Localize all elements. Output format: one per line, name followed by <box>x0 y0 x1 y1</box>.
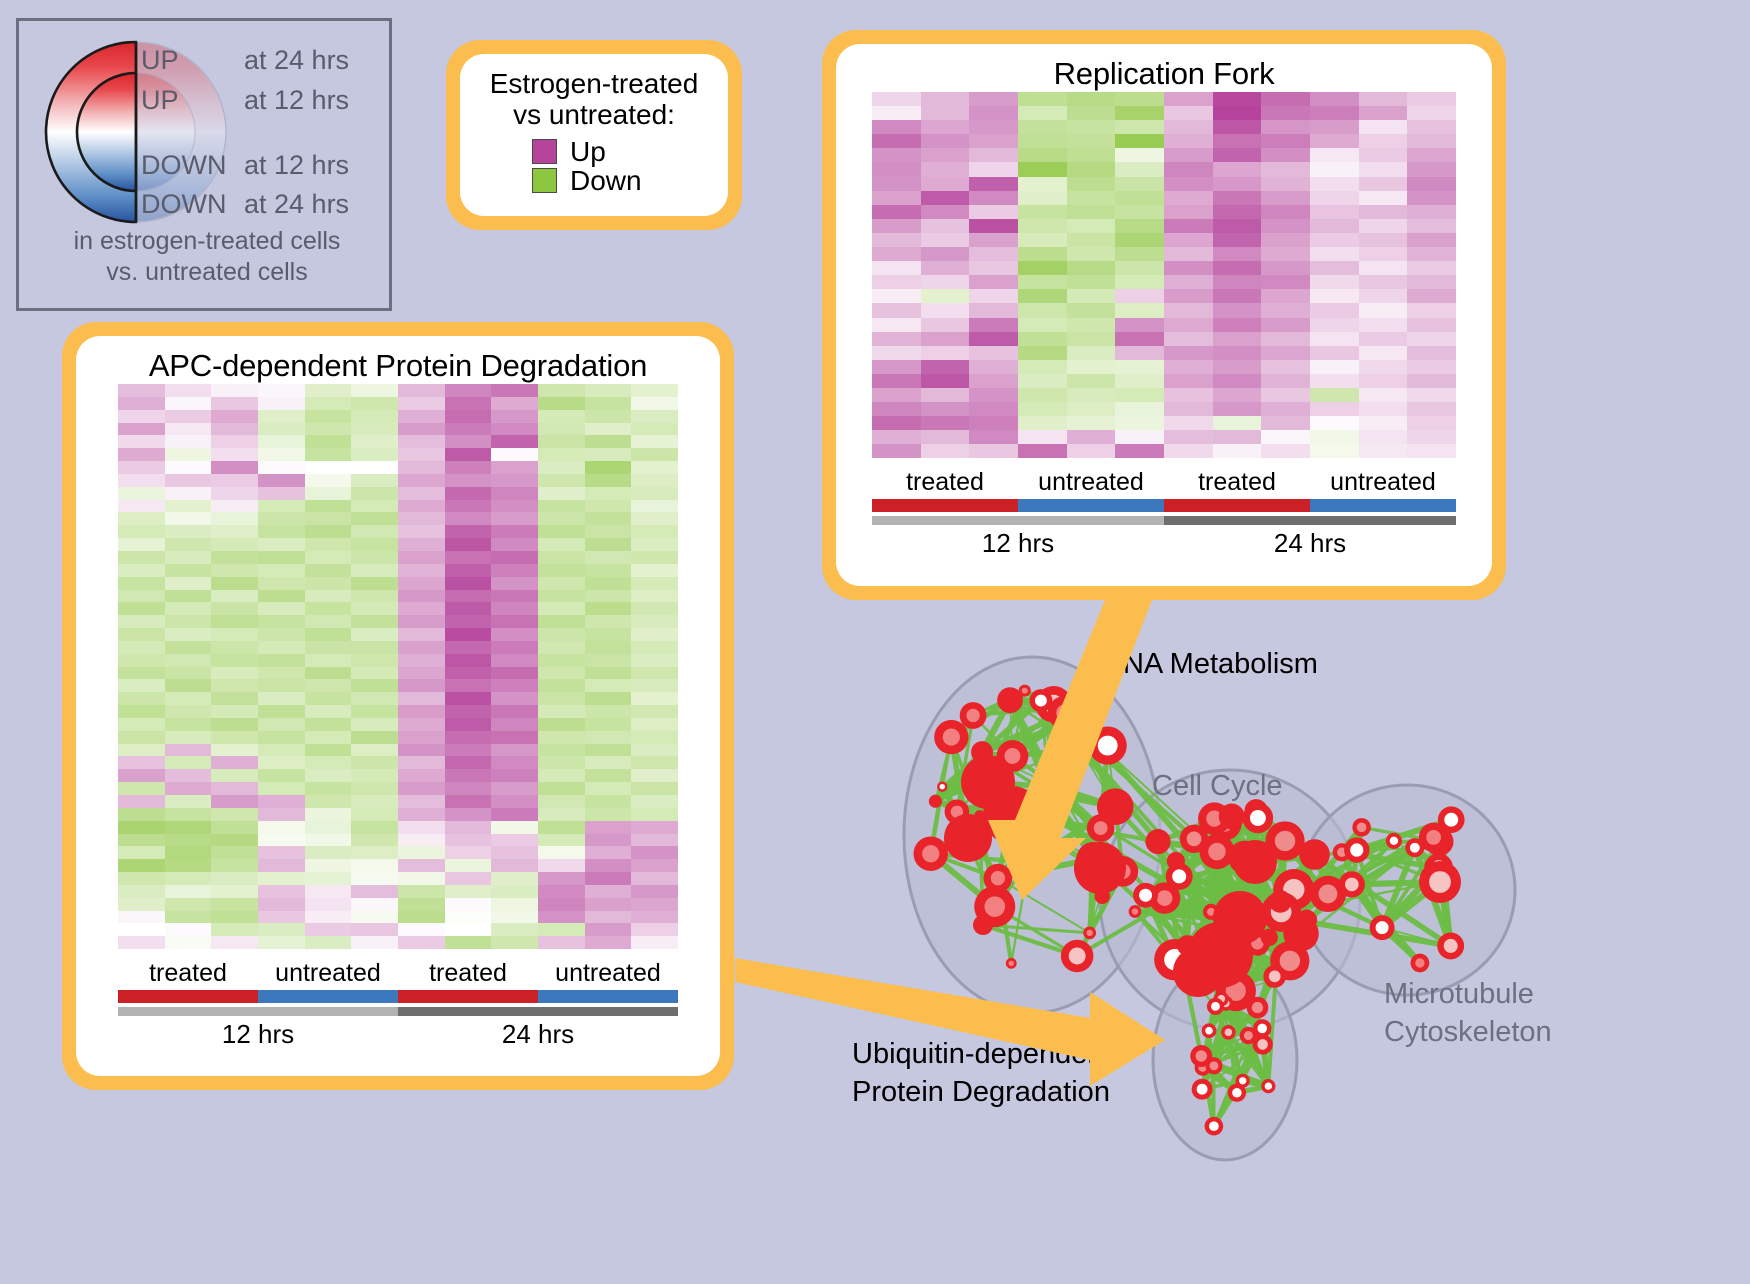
heatmap-cell <box>969 134 1018 148</box>
network-node-center <box>1196 1050 1207 1061</box>
heatmap-cell <box>305 602 352 615</box>
heatmap-cell <box>631 448 678 461</box>
heatmap-cell <box>1407 261 1456 275</box>
heatmap-cell <box>305 461 352 474</box>
heatmap-cell <box>1359 191 1408 205</box>
heatmap-cell <box>398 602 445 615</box>
apc-group-label-3: untreated <box>538 959 678 988</box>
heatmap-cell <box>1164 275 1213 289</box>
heatmap-cell <box>351 538 398 551</box>
heatmap-cell <box>1359 346 1408 360</box>
cluster-label-cytoskeleton: Cytoskeleton <box>1384 1016 1552 1049</box>
heatmap-cell <box>258 923 305 936</box>
heatmap-cell <box>1407 360 1456 374</box>
heatmap-cell <box>1164 205 1213 219</box>
heatmap-cell <box>1018 388 1067 402</box>
heatmap-cell <box>1018 233 1067 247</box>
heatmap-cell <box>1018 205 1067 219</box>
heatmap-cell <box>398 936 445 949</box>
heatmap-cell <box>1310 162 1359 176</box>
heatmap-cell <box>445 487 492 500</box>
heatmap-cell <box>211 718 258 731</box>
heatmap-cell <box>1115 106 1164 120</box>
apc-time-label-1: 24 hrs <box>398 1019 678 1050</box>
heatmap-cell <box>1115 134 1164 148</box>
heatmap-cell <box>1115 402 1164 416</box>
heatmap-cell <box>1310 360 1359 374</box>
heatmap-cell <box>491 923 538 936</box>
heatmap-cell <box>1067 318 1116 332</box>
heatmap-cell <box>258 718 305 731</box>
heatmap-cell <box>872 247 921 261</box>
network-node-center <box>1265 1082 1272 1089</box>
heatmap-cell <box>351 641 398 654</box>
network-node-center <box>1345 878 1359 892</box>
updown-legend-panel: Estrogen-treated vs untreated: Up Down <box>446 40 742 230</box>
heatmap-cell <box>258 846 305 859</box>
heatmap-cell <box>165 448 212 461</box>
heatmap-cell <box>872 233 921 247</box>
heatmap-cell <box>398 692 445 705</box>
heatmap-cell <box>211 885 258 898</box>
heatmap-cell <box>631 718 678 731</box>
heatmap-cell <box>351 435 398 448</box>
heatmap-cell <box>305 397 352 410</box>
heatmap-cell <box>398 872 445 885</box>
heatmap-cell <box>445 577 492 590</box>
heatmap-cell <box>1018 120 1067 134</box>
heatmap-cell <box>305 564 352 577</box>
heatmap-cell <box>1407 430 1456 444</box>
heatmap-cell <box>1213 360 1262 374</box>
network-node <box>929 795 942 808</box>
heatmap-cell <box>1359 360 1408 374</box>
heatmap-cell <box>969 318 1018 332</box>
heatmap-cell <box>631 821 678 834</box>
heatmap-cell <box>1115 162 1164 176</box>
heatmap-cell <box>538 769 585 782</box>
heatmap-cell <box>211 423 258 436</box>
network-node <box>1219 804 1245 830</box>
heatmap-cell <box>398 384 445 397</box>
heatmap-cell <box>1310 205 1359 219</box>
heatmap-cell <box>538 718 585 731</box>
heatmap-cell <box>1407 148 1456 162</box>
heatmap-cell <box>351 384 398 397</box>
heatmap-cell <box>165 667 212 680</box>
heatmap-cell <box>538 795 585 808</box>
heatmap-cell <box>165 782 212 795</box>
heatmap-cell <box>1310 247 1359 261</box>
heatmap-cell <box>1018 402 1067 416</box>
heatmap-cell <box>1115 148 1164 162</box>
heatmap-cell <box>872 162 921 176</box>
network-node-center <box>1390 837 1398 845</box>
heatmap-cell <box>351 487 398 500</box>
heatmap-cell <box>1310 289 1359 303</box>
heatmap-cell <box>872 346 921 360</box>
heatmap-cell <box>445 667 492 680</box>
heatmap-cell <box>165 397 212 410</box>
heatmap-cell <box>1164 233 1213 247</box>
heatmap-cell <box>1407 416 1456 430</box>
heatmap-cell <box>1164 444 1213 458</box>
heatmap-cell <box>211 448 258 461</box>
heatmap-cell <box>1261 191 1310 205</box>
heatmap-cell <box>491 679 538 692</box>
heatmap-cell <box>305 577 352 590</box>
heatmap-cell <box>585 769 632 782</box>
heatmap-cell <box>398 679 445 692</box>
heatmap-cell <box>538 397 585 410</box>
heatmap-cell <box>1407 374 1456 388</box>
heatmap-cell <box>398 821 445 834</box>
network-node-center <box>1275 831 1295 851</box>
heatmap-cell <box>258 641 305 654</box>
heatmap-cell <box>351 628 398 641</box>
heatmap-cell <box>165 615 212 628</box>
heatmap-cell <box>305 705 352 718</box>
heatmap-cell <box>1018 92 1067 106</box>
heatmap-cell <box>1261 233 1310 247</box>
heatmap-cell <box>1067 191 1116 205</box>
heatmap-cell <box>211 628 258 641</box>
heatmap-cell <box>969 148 1018 162</box>
heatmap-cell <box>1213 177 1262 191</box>
heatmap-cell <box>1067 374 1116 388</box>
heatmap-cell <box>538 487 585 500</box>
heatmap-cell <box>165 602 212 615</box>
heatmap-cell <box>969 261 1018 275</box>
heatmap-cell <box>631 756 678 769</box>
heatmap-cell <box>211 577 258 590</box>
heatmap-cell <box>491 692 538 705</box>
heatmap-cell <box>351 461 398 474</box>
heatmap-cell <box>585 834 632 847</box>
heatmap-cell <box>398 628 445 641</box>
network-node-center <box>1415 958 1424 967</box>
heatmap-cell <box>1407 289 1456 303</box>
heatmap-cell <box>1067 134 1116 148</box>
heatmap-cell <box>491 911 538 924</box>
heatmap-cell <box>1407 92 1456 106</box>
heatmap-cell <box>165 744 212 757</box>
heatmap-cell <box>969 416 1018 430</box>
heatmap-cell <box>1213 374 1262 388</box>
network-node <box>1269 890 1292 913</box>
replication-fork-panel: Replication Fork treated untreated treat… <box>822 30 1506 600</box>
heatmap-cell <box>1067 177 1116 191</box>
heatmap-cell <box>398 834 445 847</box>
heatmap-cell <box>538 410 585 423</box>
heatmap-cell <box>1359 402 1408 416</box>
heatmap-cell <box>351 525 398 538</box>
network-node-center <box>984 896 1005 917</box>
heatmap-cell <box>351 795 398 808</box>
network-node-center <box>1073 742 1084 753</box>
heatmap-cell <box>258 615 305 628</box>
heatmap-cell <box>921 219 970 233</box>
heatmap-cell <box>872 402 921 416</box>
heatmap-cell <box>165 859 212 872</box>
heatmap-cell <box>258 795 305 808</box>
heatmap-cell <box>1213 444 1262 458</box>
heatmap-cell <box>491 756 538 769</box>
heatmap-cell <box>1359 318 1408 332</box>
heatmap-cell <box>872 191 921 205</box>
heatmap-cell <box>538 834 585 847</box>
heatmap-cell <box>921 388 970 402</box>
heatmap-cell <box>305 692 352 705</box>
legend-title-line2: vs untreated: <box>470 99 718 130</box>
heatmap-cell <box>398 795 445 808</box>
heatmap-cell <box>305 872 352 885</box>
heatmap-cell <box>445 628 492 641</box>
heatmap-cell <box>305 898 352 911</box>
heatmap-cell <box>1115 360 1164 374</box>
heatmap-cell <box>351 615 398 628</box>
heatmap-cell <box>491 872 538 885</box>
heatmap-cell <box>538 602 585 615</box>
heatmap-cell <box>351 859 398 872</box>
heatmap-cell <box>969 430 1018 444</box>
heatmap-cell <box>1261 261 1310 275</box>
heatmap-cell <box>351 692 398 705</box>
heatmap-cell <box>538 859 585 872</box>
heatmap-cell <box>258 769 305 782</box>
heatmap-cell <box>631 654 678 667</box>
heatmap-cell <box>1115 92 1164 106</box>
heatmap-cell <box>305 795 352 808</box>
network-node-center <box>1098 736 1118 756</box>
heatmap-cell <box>1359 444 1408 458</box>
heatmap-cell <box>351 898 398 911</box>
heatmap-cell <box>165 641 212 654</box>
heatmap-cell <box>1213 148 1262 162</box>
heatmap-cell <box>872 205 921 219</box>
heatmap-cell <box>585 898 632 911</box>
heatmap-cell <box>118 846 165 859</box>
heatmap-cell <box>351 654 398 667</box>
heatmap-cell <box>585 654 632 667</box>
heatmap-cell <box>305 679 352 692</box>
heatmap-cell <box>969 402 1018 416</box>
heatmap-cell <box>165 795 212 808</box>
heatmap-cell <box>1310 374 1359 388</box>
heatmap-cell <box>631 551 678 564</box>
heatmap-cell <box>585 731 632 744</box>
heatmap-cell <box>491 667 538 680</box>
heatmap-cell <box>305 590 352 603</box>
heatmap-cell <box>118 448 165 461</box>
heatmap-cell <box>538 615 585 628</box>
heatmap-cell <box>351 834 398 847</box>
heatmap-cell <box>351 936 398 949</box>
heatmap-cell <box>538 384 585 397</box>
heatmap-cell <box>211 731 258 744</box>
heatmap-cell <box>1067 261 1116 275</box>
heatmap-cell <box>491 846 538 859</box>
heatmap-cell <box>1067 332 1116 346</box>
heatmap-cell <box>1213 134 1262 148</box>
heatmap-cell <box>211 795 258 808</box>
heatmap-cell <box>1213 303 1262 317</box>
heatmap-cell <box>631 885 678 898</box>
heatmap-cell <box>165 487 212 500</box>
heatmap-cell <box>258 679 305 692</box>
legend-title-line1: Estrogen-treated <box>470 68 718 99</box>
heatmap-cell <box>398 667 445 680</box>
heatmap-cell <box>1310 106 1359 120</box>
heatmap-cell <box>305 435 352 448</box>
heatmap-cell <box>445 911 492 924</box>
network-node-center <box>1232 1088 1242 1098</box>
rf-group-label-3: untreated <box>1310 468 1456 497</box>
heatmap-cell <box>305 821 352 834</box>
heatmap-cell <box>1115 261 1164 275</box>
heatmap-cell <box>1359 106 1408 120</box>
heatmap-cell <box>1067 303 1116 317</box>
heatmap-cell <box>165 538 212 551</box>
heatmap-cell <box>631 474 678 487</box>
heatmap-cell <box>872 261 921 275</box>
heatmap-cell <box>538 551 585 564</box>
heatmap-cell <box>1115 177 1164 191</box>
heatmap-cell <box>1359 388 1408 402</box>
heatmap-cell <box>351 808 398 821</box>
heatmap-cell <box>491 551 538 564</box>
heatmap-cell <box>258 628 305 641</box>
heatmap-cell <box>118 859 165 872</box>
heatmap-cell <box>1018 374 1067 388</box>
heatmap-cell <box>538 872 585 885</box>
heatmap-cell <box>351 911 398 924</box>
heatmap-cell <box>258 744 305 757</box>
heatmap-cell <box>165 384 212 397</box>
heatmap-cell <box>1115 346 1164 360</box>
heatmap-cell <box>872 92 921 106</box>
heatmap-cell <box>1067 360 1116 374</box>
network-node-center <box>1376 921 1389 934</box>
heatmap-cell <box>305 487 352 500</box>
heatmap-cell <box>118 410 165 423</box>
key-row-up-12-label: UP <box>141 85 179 116</box>
network-node-center <box>1056 704 1073 721</box>
heatmap-cell <box>305 834 352 847</box>
heatmap-cell <box>398 435 445 448</box>
heatmap-cell <box>585 718 632 731</box>
heatmap-cell <box>1359 233 1408 247</box>
heatmap-cell <box>872 388 921 402</box>
heatmap-cell <box>585 885 632 898</box>
heatmap-cell <box>258 859 305 872</box>
key-caption: in estrogen-treated cells vs. untreated … <box>19 226 395 288</box>
apc-group-label-2: treated <box>398 959 538 988</box>
heatmap-cell <box>211 487 258 500</box>
key-gradient-circle: UP at 24 hrs UP at 12 hrs DOWN at 12 hrs… <box>41 37 381 227</box>
heatmap-cell <box>118 821 165 834</box>
network-node-center <box>1139 889 1152 902</box>
heatmap-cell <box>872 177 921 191</box>
heatmap-cell <box>165 654 212 667</box>
heatmap-cell <box>1164 430 1213 444</box>
network-node-center <box>966 709 979 722</box>
heatmap-cell <box>969 332 1018 346</box>
heatmap-cell <box>398 538 445 551</box>
heatmap-cell <box>1018 219 1067 233</box>
heatmap-cell <box>258 834 305 847</box>
heatmap-cell <box>1359 134 1408 148</box>
heatmap-cell <box>165 911 212 924</box>
heatmap-cell <box>165 435 212 448</box>
heatmap-cell <box>1018 416 1067 430</box>
heatmap-cell <box>1407 177 1456 191</box>
heatmap-cell <box>211 551 258 564</box>
heatmap-cell <box>1407 219 1456 233</box>
heatmap-cell <box>1213 275 1262 289</box>
heatmap-cell <box>1261 148 1310 162</box>
key-row-down-24-time: at 24 hrs <box>244 189 349 220</box>
heatmap-cell <box>1018 289 1067 303</box>
replication-fork-heatmap <box>872 92 1456 458</box>
heatmap-cell <box>538 474 585 487</box>
heatmap-cell <box>1261 430 1310 444</box>
heatmap-cell <box>165 500 212 513</box>
heatmap-cell <box>211 744 258 757</box>
heatmap-cell <box>538 911 585 924</box>
network-node-center <box>1069 948 1086 965</box>
heatmap-cell <box>398 808 445 821</box>
heatmap-cell <box>118 718 165 731</box>
heatmap-cell <box>921 402 970 416</box>
heatmap-cell <box>1115 219 1164 233</box>
cluster-label-ubiquitin-line1: Ubiquitin-dependent <box>852 1038 1112 1071</box>
heatmap-cell <box>631 898 678 911</box>
legend-item-down: Down <box>532 167 718 195</box>
heatmap-cell <box>921 120 970 134</box>
network-node-center <box>1210 1061 1219 1070</box>
heatmap-cell <box>398 859 445 872</box>
heatmap-cell <box>491 821 538 834</box>
heatmap-cell <box>631 525 678 538</box>
heatmap-cell <box>538 808 585 821</box>
heatmap-cell <box>445 641 492 654</box>
heatmap-cell <box>1018 148 1067 162</box>
heatmap-cell <box>398 500 445 513</box>
heatmap-cell <box>118 602 165 615</box>
heatmap-cell <box>1310 92 1359 106</box>
network-node-center <box>1350 843 1363 856</box>
heatmap-cell <box>969 205 1018 219</box>
heatmap-cell <box>872 416 921 430</box>
network-node-center <box>1187 831 1202 846</box>
heatmap-cell <box>631 423 678 436</box>
heatmap-cell <box>1115 430 1164 444</box>
heatmap-cell <box>351 667 398 680</box>
heatmap-cell <box>1407 162 1456 176</box>
heatmap-cell <box>1213 233 1262 247</box>
heatmap-cell <box>585 461 632 474</box>
network-node-center <box>991 871 1005 885</box>
heatmap-cell <box>258 512 305 525</box>
apc-panel-title: APC-dependent Protein Degradation <box>118 348 678 384</box>
heatmap-cell <box>1407 332 1456 346</box>
rf-group-label-2: treated <box>1164 468 1310 497</box>
heatmap-cell <box>445 461 492 474</box>
heatmap-cell <box>921 191 970 205</box>
network-node-center <box>1041 785 1058 802</box>
heatmap-cell <box>969 388 1018 402</box>
